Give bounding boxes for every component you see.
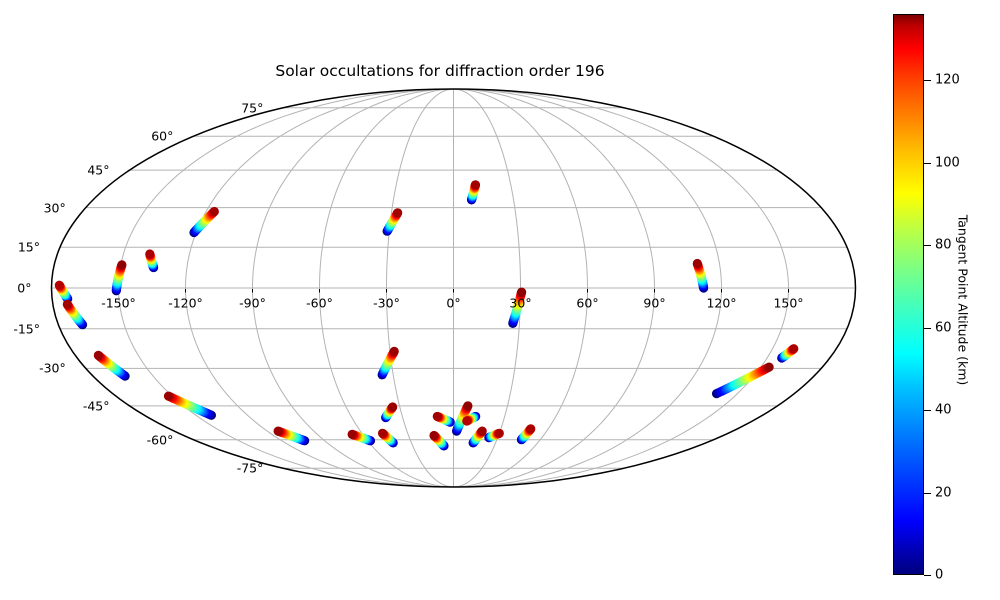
colorbar-tick-mark bbox=[924, 410, 931, 411]
colorbar-tick-label: 40 bbox=[935, 403, 952, 418]
colorbar: 020406080100120 bbox=[893, 14, 924, 575]
lon-tick-label: -30° bbox=[373, 296, 400, 311]
figure-canvas: Solar occultations for diffraction order… bbox=[0, 0, 1000, 600]
lat-tick-label: 60° bbox=[151, 129, 173, 144]
lon-tick-label: 30° bbox=[509, 296, 531, 311]
lat-tick-label: 75° bbox=[241, 100, 263, 115]
lon-tick-label: 120° bbox=[706, 296, 736, 311]
colorbar-tick-label: 20 bbox=[935, 485, 952, 500]
lon-tick-label: -120° bbox=[168, 296, 203, 311]
lat-tick-label: -60° bbox=[147, 432, 174, 447]
lat-tick-label: -45° bbox=[83, 398, 110, 413]
mollweide-map bbox=[0, 0, 1000, 600]
lat-tick-label: -75° bbox=[237, 461, 264, 476]
colorbar-axis-label: Tangent Point Altitude (km) bbox=[956, 215, 971, 386]
colorbar-tick-mark bbox=[924, 163, 931, 164]
lat-tick-label: 45° bbox=[87, 163, 109, 178]
colorbar-tick-label: 0 bbox=[935, 568, 943, 583]
lat-tick-label: 15° bbox=[18, 240, 40, 255]
lon-tick-label: -90° bbox=[239, 296, 266, 311]
colorbar-tick-label: 120 bbox=[935, 73, 960, 88]
lon-tick-label: -150° bbox=[101, 296, 136, 311]
lon-tick-label: 0° bbox=[446, 296, 460, 311]
lat-tick-label: -15° bbox=[13, 321, 40, 336]
colorbar-tick-label: 60 bbox=[935, 320, 952, 335]
lon-tick-label: 60° bbox=[576, 296, 598, 311]
occultation-tracks bbox=[55, 180, 799, 450]
lat-tick-label: 0° bbox=[17, 281, 31, 296]
colorbar-tick-mark bbox=[924, 328, 931, 329]
lon-tick-label: -60° bbox=[306, 296, 333, 311]
lat-tick-label: -30° bbox=[39, 361, 66, 376]
colorbar-tick-label: 100 bbox=[935, 155, 960, 170]
colorbar-tick-mark bbox=[924, 575, 931, 576]
lon-tick-label: 90° bbox=[643, 296, 665, 311]
colorbar-gradient bbox=[893, 14, 924, 575]
lat-tick-label: 30° bbox=[44, 200, 66, 215]
colorbar-tick-mark bbox=[924, 80, 931, 81]
colorbar-tick-label: 80 bbox=[935, 238, 952, 253]
axis-tick-marks bbox=[119, 289, 789, 293]
colorbar-tick-mark bbox=[924, 493, 931, 494]
lon-tick-label: 150° bbox=[773, 296, 803, 311]
colorbar-tick-mark bbox=[924, 245, 931, 246]
